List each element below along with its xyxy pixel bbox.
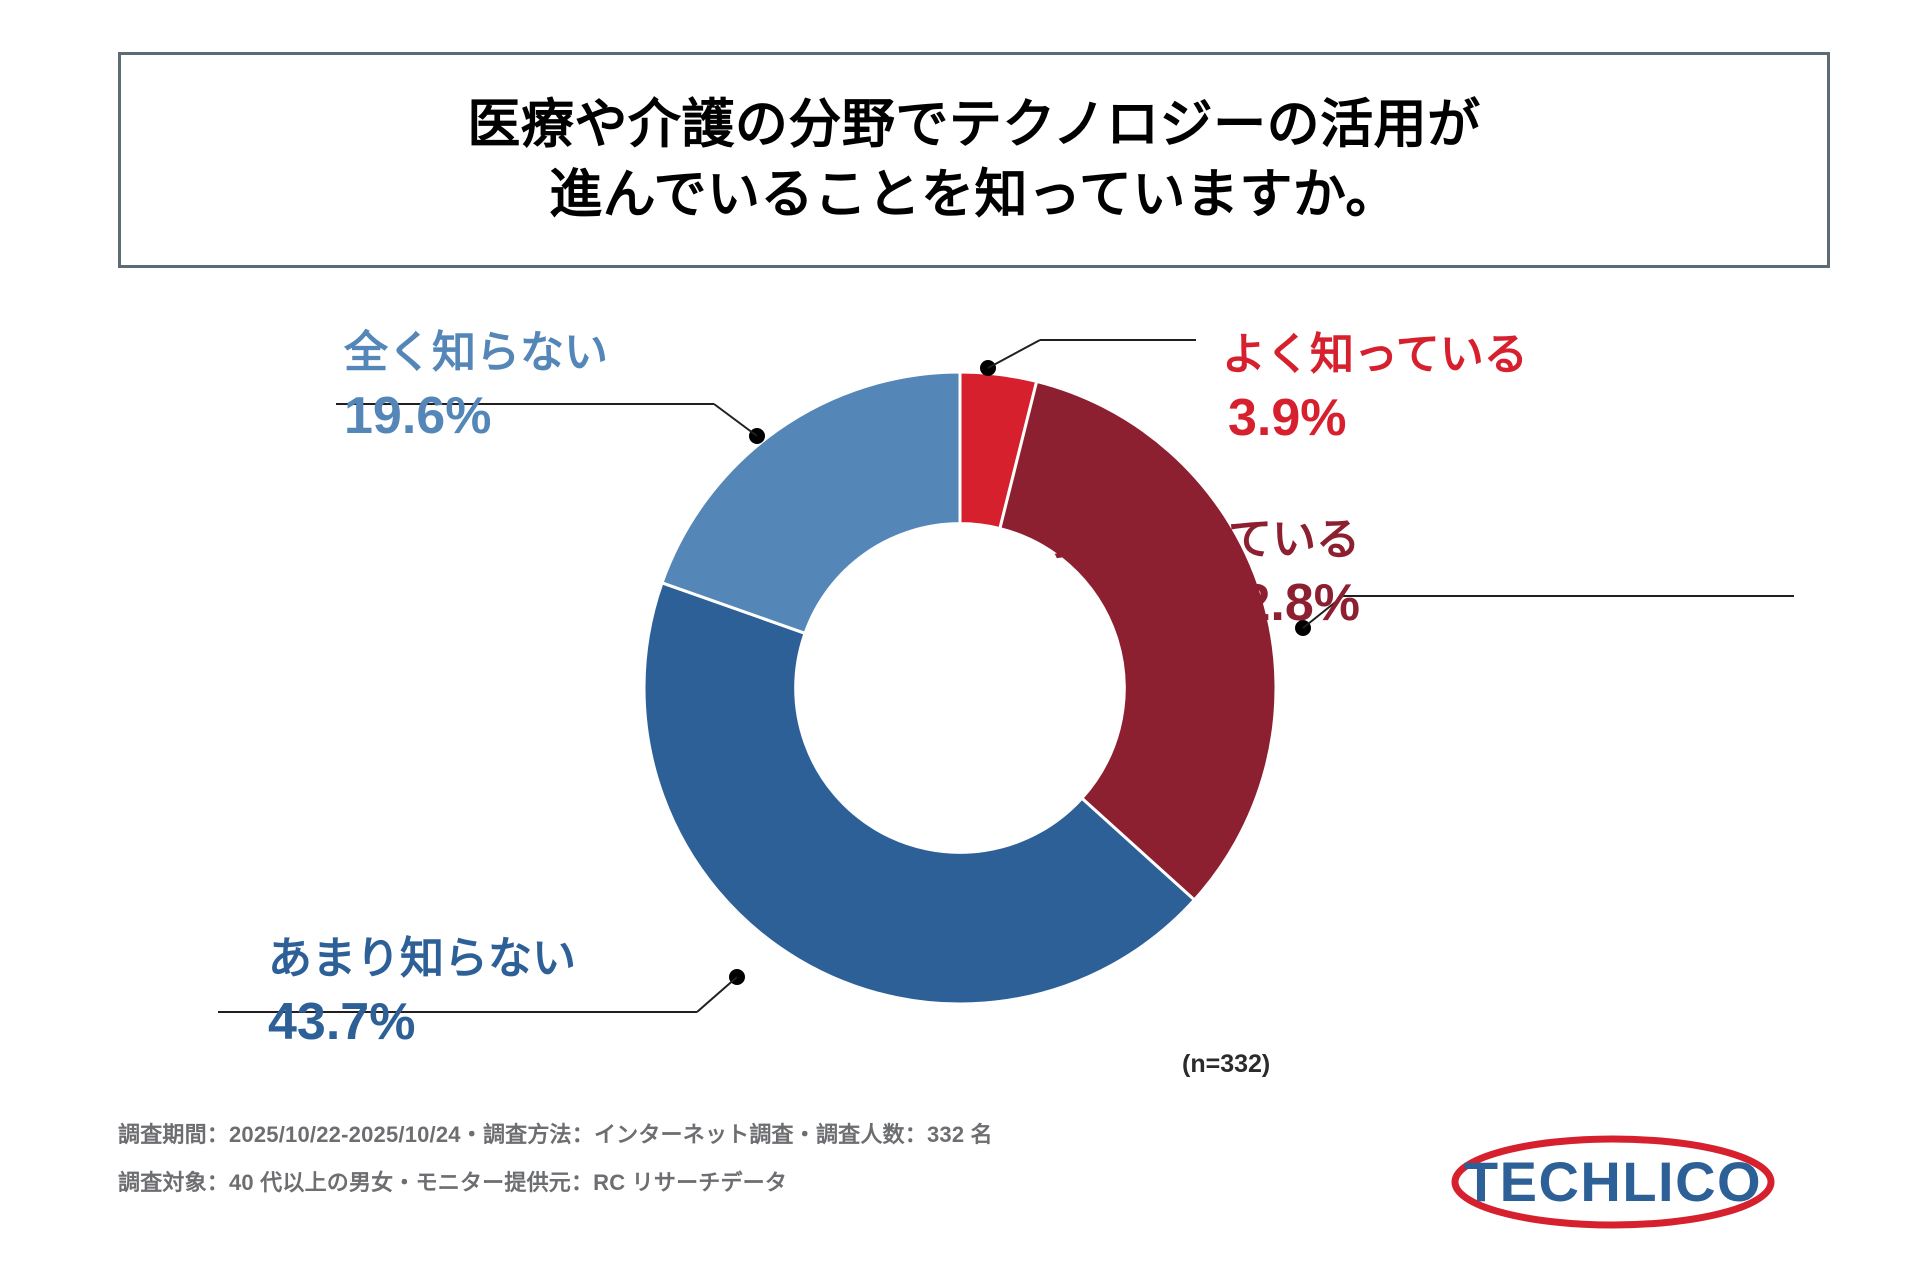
footer: 調査期間：2025/10/22-2025/10/24・調査方法：インターネット調…: [118, 1124, 1318, 1220]
callout-label-amari: あまり知らない: [268, 934, 576, 985]
callout-label-sukoshi: 少し知っている: [1054, 515, 1360, 566]
logo-wordmark: TECHLICO: [1464, 1150, 1762, 1213]
callout-zenku-shiranai: 全く知らない 19.6%: [344, 328, 608, 446]
techlico-logo: TECHLICO: [1448, 1128, 1778, 1236]
callout-label-yoku: よく知っている: [1222, 330, 1528, 381]
sample-size-annotation: (n=332): [1182, 1050, 1270, 1079]
leader-line-zenku: [0, 0, 1920, 1280]
callout-yoku-shitteiru: よく知っている 3.9%: [1222, 330, 1528, 448]
callout-sukoshi-shitteiru: 少し知っている 32.8%: [1054, 515, 1360, 633]
footer-line-2: 調査対象：40 代以上の男女・モニター提供元：RC リサーチデータ: [118, 1172, 1318, 1194]
callout-value-amari: 43.7%: [268, 993, 576, 1053]
callout-label-zenku: 全く知らない: [344, 328, 608, 379]
callout-value-sukoshi: 32.8%: [1054, 574, 1360, 634]
techlico-logo-svg: TECHLICO: [1448, 1128, 1778, 1236]
footer-line-1: 調査期間：2025/10/22-2025/10/24・調査方法：インターネット調…: [118, 1124, 1318, 1146]
callout-amari-shiranai: あまり知らない 43.7%: [268, 934, 576, 1052]
slide-canvas: 医療や介護の分野でテクノロジーの活用が 進んでいることを知っていますか。 よく知…: [0, 0, 1920, 1280]
callout-value-zenku: 19.6%: [344, 387, 608, 447]
callout-value-yoku: 3.9%: [1228, 389, 1528, 449]
